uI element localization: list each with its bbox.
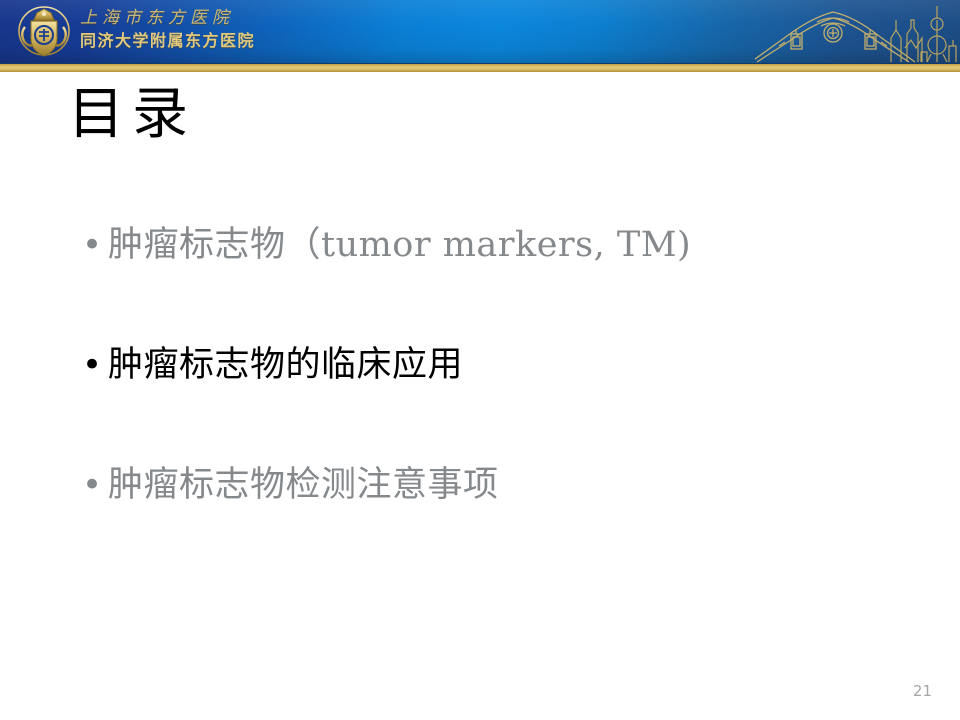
- shanghai-skyline-line-art-icon: [891, 6, 956, 62]
- list-item[interactable]: • 肿瘤标志物检测注意事项: [78, 458, 918, 578]
- bullet-dot-icon: •: [78, 218, 108, 272]
- hospital-name-wordmark: 上海市东方医院 同济大学附属东方医院: [80, 8, 310, 58]
- hospital-name-primary: 上海市东方医院: [80, 8, 310, 29]
- slide-header-banner: 上海市东方医院 同济大学附属东方医院: [0, 0, 960, 63]
- hospital-name-secondary: 同济大学附属东方医院: [80, 31, 310, 51]
- hospital-shield-emblem-icon: [16, 5, 72, 59]
- list-item[interactable]: • 肿瘤标志物（tumor markers, TM): [78, 218, 918, 338]
- list-item-label: 肿瘤标志物的临床应用: [108, 338, 918, 392]
- list-item[interactable]: • 肿瘤标志物的临床应用: [78, 338, 918, 458]
- presentation-slide: 上海市东方医院 同济大学附属东方医院: [0, 0, 960, 720]
- header-gold-divider: [0, 63, 960, 72]
- list-item-label: 肿瘤标志物（tumor markers, TM): [108, 218, 918, 272]
- list-item-label: 肿瘤标志物检测注意事项: [108, 458, 918, 512]
- outline-list: • 肿瘤标志物（tumor markers, TM) • 肿瘤标志物的临床应用 …: [78, 218, 918, 578]
- page-title: 目录: [68, 83, 196, 147]
- page-number: 21: [913, 682, 932, 700]
- bullet-dot-icon: •: [78, 338, 108, 392]
- bullet-dot-icon: •: [78, 458, 108, 512]
- header-architecture-decoration: [755, 0, 960, 63]
